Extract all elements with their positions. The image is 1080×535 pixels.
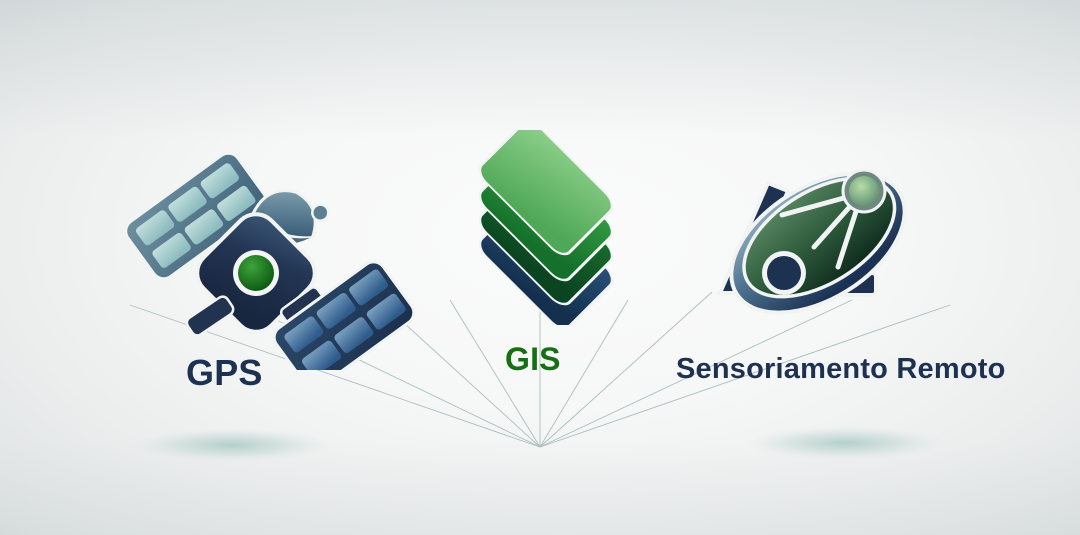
satellite-fin [185,294,236,337]
satellite-icon [118,140,418,370]
diagram-canvas: GPS GIS Sensoriamento Remoto [0,0,1080,535]
dish-feed-horn [843,170,885,212]
shadow-gps [132,428,332,462]
layers-stack-icon [446,130,646,325]
satellite-lens [233,250,279,296]
shadow-remote-sensing [745,426,945,460]
label-gis: GIS [505,341,561,378]
label-sensoriamento-remoto: Sensoriamento Remoto [676,353,1006,386]
label-gps: GPS [186,352,263,394]
satellite-dish-icon [710,145,920,350]
dish-pivot [762,251,806,295]
